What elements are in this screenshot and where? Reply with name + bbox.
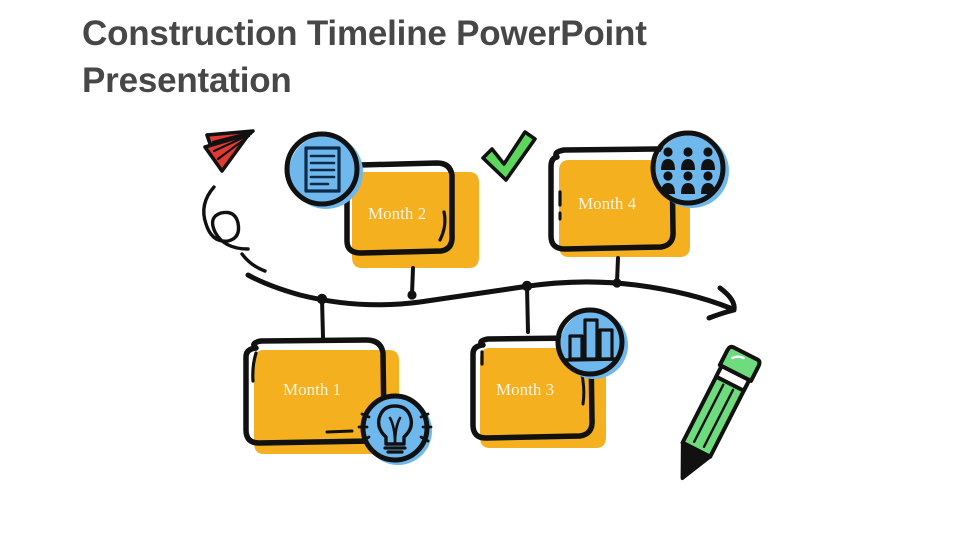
timeline-graphic: Month 1 Month 2 Month 3 Month 4	[0, 0, 960, 540]
checkmark-icon	[483, 132, 535, 180]
timeline-stem-month-3	[527, 286, 528, 332]
slide-canvas: Construction Timeline PowerPoint Present…	[0, 0, 960, 540]
timeline-stem-month-4	[617, 258, 618, 282]
bar-chart-icon-baseline	[565, 359, 617, 360]
timeline-stem-month-1	[322, 299, 323, 337]
loop-squiggle-icon	[204, 187, 248, 249]
pencil-icon	[666, 345, 761, 486]
timeline-node-month-3[interactable]	[522, 281, 532, 291]
people-group-icon[interactable]	[653, 133, 729, 208]
document-icon[interactable]	[287, 134, 363, 209]
month-3-box-accent-stroke-2	[582, 375, 584, 404]
paper-plane-icon	[205, 131, 253, 171]
timeline-stem-month-2	[412, 268, 413, 294]
timeline-node-month-1[interactable]	[317, 294, 327, 304]
timeline-node-month-2[interactable]	[407, 290, 416, 299]
month-1-box-accent-stroke-2	[327, 431, 352, 432]
milestone-box-month-2[interactable]	[347, 163, 479, 268]
loop-squiggle-tail	[242, 254, 265, 271]
lightbulb-icon[interactable]	[359, 396, 432, 465]
timeline-node-month-4[interactable]	[612, 278, 621, 287]
bar-chart-icon[interactable]	[558, 310, 628, 379]
timeline-axis	[248, 258, 734, 337]
